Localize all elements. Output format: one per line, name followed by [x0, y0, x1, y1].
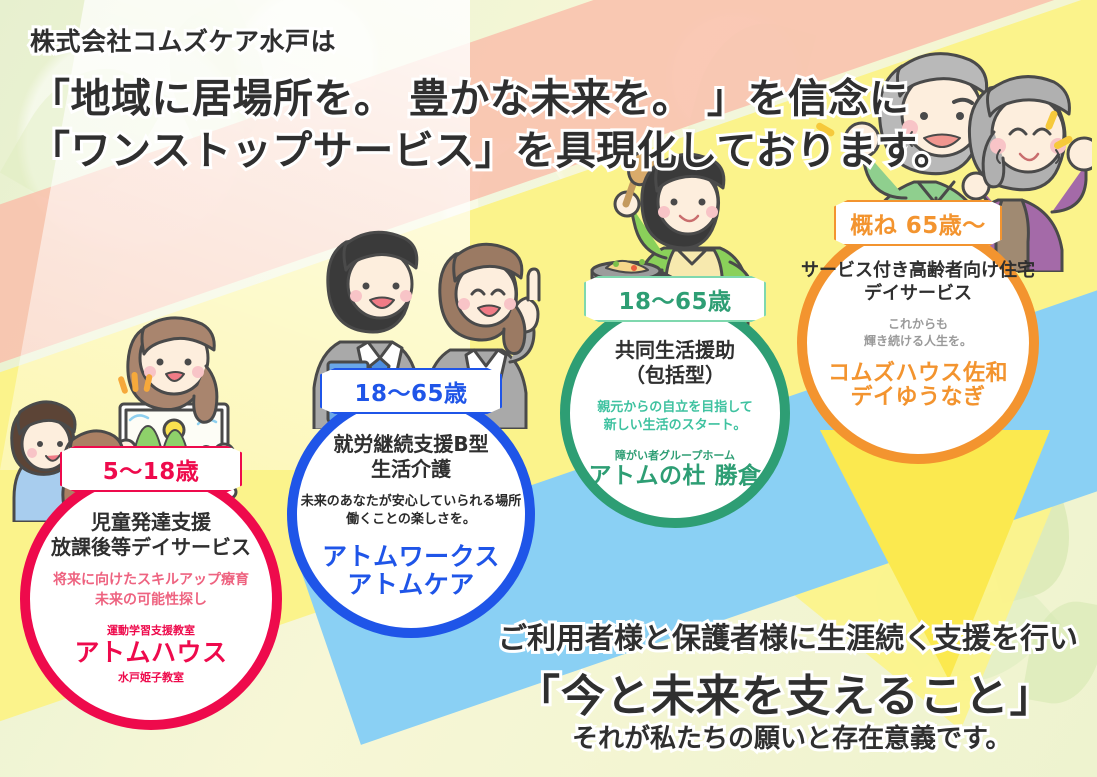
age-badge: 5〜18歳: [60, 446, 242, 492]
circle-content: サービス付き高齢者向け住宅 デイサービス これからも 輝き続ける人生を。 コムズ…: [797, 260, 1039, 411]
age-badge: 概ね 65歳〜: [834, 200, 1002, 246]
age-badge: 18〜65歳: [584, 276, 766, 322]
service-brand: コムズハウス佐和 デイゆうなぎ: [801, 362, 1035, 411]
service-title: 就労継続支援B型 生活介護: [299, 432, 523, 482]
service-title: サービス付き高齢者向け住宅 デイサービス: [801, 260, 1035, 305]
circle-content: 児童発達支援 放課後等デイサービス 将来に向けたスキルアップ療育 未来の可能性探…: [20, 510, 282, 685]
service-title: 共同生活援助 （包括型）: [572, 338, 778, 388]
infographic-canvas: 株式会社コムズケア水戸は 「地域に居場所を。 豊かな未来を。 」を信念に 「ワン…: [0, 0, 1097, 777]
service-kicker: 運動学習支援教室: [32, 622, 270, 638]
service-subtitle: これからも 輝き続ける人生を。: [801, 316, 1035, 350]
footer-line1: ご利用者様と保護者様に生涯続く支援を行い: [498, 615, 1078, 657]
circle-content: 就労継続支援B型 生活介護 未来のあなたが安心していられる場所 働くことの楽しさ…: [287, 432, 535, 599]
headline-line1: 株式会社コムズケア水戸は: [30, 22, 336, 58]
age-badge: 18〜65歳: [320, 368, 502, 414]
circle-content: 共同生活援助 （包括型） 親元からの自立を目指して 新しい生活のスタート。 障が…: [560, 338, 790, 490]
service-title: 児童発達支援 放課後等デイサービス: [32, 510, 270, 560]
service-brand: アトムワークス アトムケア: [299, 543, 523, 599]
service-circle-group-home[interactable]: 共同生活援助 （包括型） 親元からの自立を目指して 新しい生活のスタート。 障が…: [560, 298, 790, 528]
service-brand: アトムハウス: [32, 639, 270, 667]
service-subtitle: 親元からの自立を目指して 新しい生活のスタート。: [572, 399, 778, 435]
service-brand: アトムの杜 勝倉: [572, 464, 778, 490]
headline-line2: 「地域に居場所を。 豊かな未来を。 」を信念に: [30, 66, 909, 124]
service-kicker: 障がい者グループホーム: [572, 447, 778, 463]
service-circle-senior[interactable]: サービス付き高齢者向け住宅 デイサービス これからも 輝き続ける人生を。 コムズ…: [797, 222, 1039, 464]
service-subtitle: 未来のあなたが安心していられる場所 働くことの楽しさを。: [299, 493, 523, 529]
service-brand-small: 水戸姫子教室: [32, 669, 270, 685]
service-circle-child[interactable]: 児童発達支援 放課後等デイサービス 将来に向けたスキルアップ療育 未来の可能性探…: [20, 468, 282, 730]
service-circle-work[interactable]: 就労継続支援B型 生活介護 未来のあなたが安心していられる場所 働くことの楽しさ…: [287, 390, 535, 638]
footer-line3: それが私たちの願いと存在意義です。: [572, 718, 1011, 755]
footer-line2: 「今と未来を支えること」: [516, 660, 1055, 724]
service-subtitle: 将来に向けたスキルアップ療育 未来の可能性探し: [32, 571, 270, 610]
headline-line3: 「ワンストップサービス」を具現化しております。: [30, 118, 954, 176]
